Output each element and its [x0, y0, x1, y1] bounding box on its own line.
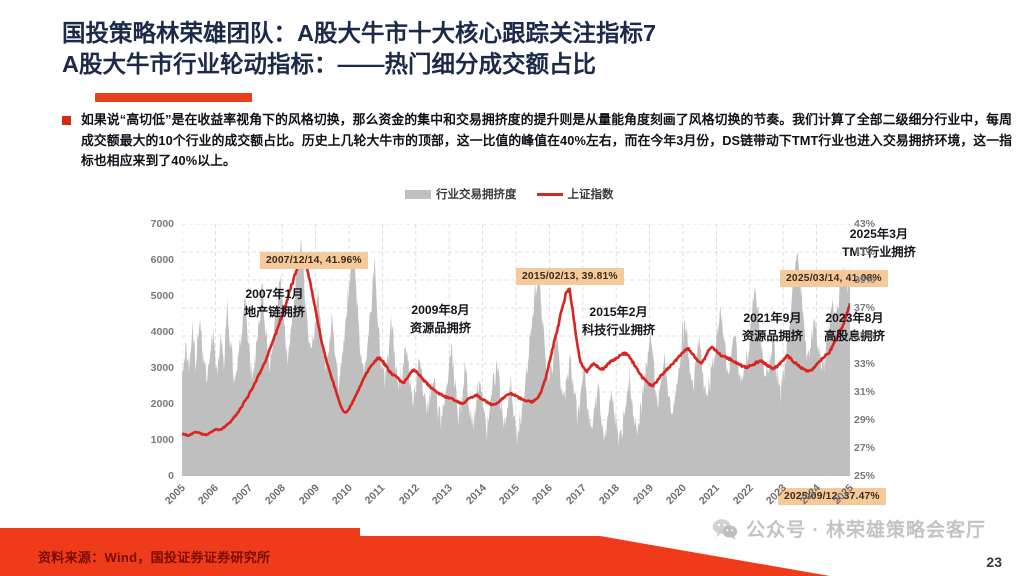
bullet-paragraph: 如果说“高切低”是在收益率视角下的风格切换，那么资金的集中和交易拥挤度的提升则是… [62, 110, 1012, 172]
y-right-tick: 29% [854, 414, 894, 426]
annotation-note-2015: 2015年2月科技行业拥挤 [582, 304, 655, 339]
y-right-tick: 43% [854, 218, 894, 230]
legend-item-line: 上证指数 [537, 186, 614, 202]
y-left-tick: 3000 [128, 362, 174, 374]
bullet-square-icon [62, 116, 71, 125]
page-number: 23 [986, 554, 1002, 570]
y-left-tick: 0 [128, 470, 174, 482]
y-left-tick: 5000 [128, 290, 174, 302]
y-left-tick: 2000 [128, 398, 174, 410]
y-right-tick: 41% [854, 246, 894, 258]
y-right-tick: 25% [854, 470, 894, 482]
y-right-tick: 37% [854, 302, 894, 314]
y-right-tick: 39% [854, 274, 894, 286]
title-underline-rule [95, 93, 252, 102]
x-tick: 2008 [263, 482, 288, 507]
x-tick: 2013 [430, 482, 455, 507]
legend-label-line: 上证指数 [568, 186, 614, 202]
y-right-tick: 31% [854, 386, 894, 398]
y-right-tick: 33% [854, 358, 894, 370]
x-tick: 2017 [564, 482, 589, 507]
y-left-tick: 6000 [128, 254, 174, 266]
annotation-peak-2015: 2015/02/13, 39.81% [516, 268, 624, 285]
legend-swatch-line-icon [537, 193, 563, 196]
slide-canvas: 国投策略林荣雄团队：A股大牛市十大核心跟踪关注指标7 A股大牛市行业轮动指标：—… [0, 0, 1024, 576]
x-tick: 2019 [630, 482, 655, 507]
title-line-1: 国投策略林荣雄团队：A股大牛市十大核心跟踪关注指标7 [62, 18, 962, 49]
y-left-tick: 4000 [128, 326, 174, 338]
legend-label-area: 行业交易拥挤度 [436, 186, 517, 202]
annotation-note-2009: 2009年8月资源品拥挤 [410, 302, 471, 337]
x-tick: 2021 [697, 482, 722, 507]
x-tick: 2005 [163, 482, 188, 507]
y-left-tick: 1000 [128, 434, 174, 446]
page-title: 国投策略林荣雄团队：A股大牛市十大核心跟踪关注指标7 A股大牛市行业轮动指标：—… [62, 18, 962, 80]
y-right-tick: 27% [854, 442, 894, 454]
source-text: 资料来源：Wind，国投证券证券研究所 [38, 547, 270, 566]
annotation-note-2007: 2007年1月地产链拥挤 [244, 286, 305, 321]
x-tick: 2007 [230, 482, 255, 507]
x-tick: 2016 [530, 482, 555, 507]
wechat-icon [712, 518, 738, 540]
annotation-peak-2007: 2007/12/14, 41.96% [260, 252, 368, 269]
x-tick: 2012 [397, 482, 422, 507]
y-right-tick: 35% [854, 330, 894, 342]
x-tick: 2018 [597, 482, 622, 507]
x-tick: 2009 [296, 482, 321, 507]
x-tick: 2022 [731, 482, 756, 507]
watermark-text: 公众号 · 林荣雄策略会客厅 [746, 515, 986, 542]
x-tick: 2011 [363, 482, 388, 507]
watermark: 公众号 · 林荣雄策略会客厅 [712, 515, 986, 542]
y-left-tick: 7000 [128, 218, 174, 230]
chart-container: 行业交易拥挤度 上证指数 2007/12/14, 41.96%2015/02/1… [120, 186, 910, 526]
x-tick: 2014 [463, 482, 488, 507]
chart-legend: 行业交易拥挤度 上证指数 [405, 186, 614, 202]
title-line-2: A股大牛市行业轮动指标：——热门细分成交额占比 [62, 49, 962, 80]
x-tick: 2015 [497, 482, 522, 507]
x-tick: 2020 [664, 482, 689, 507]
legend-swatch-area-icon [405, 190, 431, 199]
x-tick: 2010 [330, 482, 355, 507]
x-tick: 2006 [196, 482, 221, 507]
annotation-note-2021: 2021年9月资源品拥挤 [742, 310, 803, 345]
bullet-paragraph-text: 如果说“高切低”是在收益率视角下的风格切换，那么资金的集中和交易拥挤度的提升则是… [81, 110, 1012, 172]
legend-item-area: 行业交易拥挤度 [405, 186, 517, 202]
